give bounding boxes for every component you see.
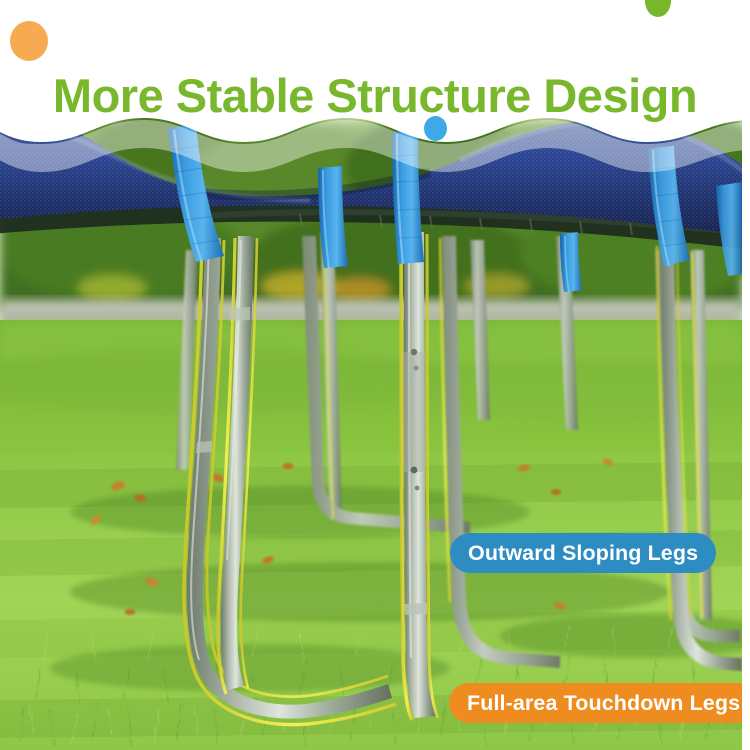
blue-dot-decoration — [424, 116, 447, 141]
orange-dot-decoration — [10, 21, 48, 61]
product-feature-poster: More Stable Structure Design Outward Slo… — [0, 0, 750, 750]
badge-full-area-touchdown-legs: Full-area Touchdown Legs — [449, 683, 750, 723]
badge-outward-sloping-legs-label: Outward Sloping Legs — [468, 541, 698, 566]
badge-outward-sloping-legs: Outward Sloping Legs — [450, 533, 716, 573]
right-white-margin — [742, 0, 750, 750]
page-title: More Stable Structure Design — [0, 72, 750, 119]
badge-full-area-touchdown-legs-label: Full-area Touchdown Legs — [467, 691, 740, 716]
